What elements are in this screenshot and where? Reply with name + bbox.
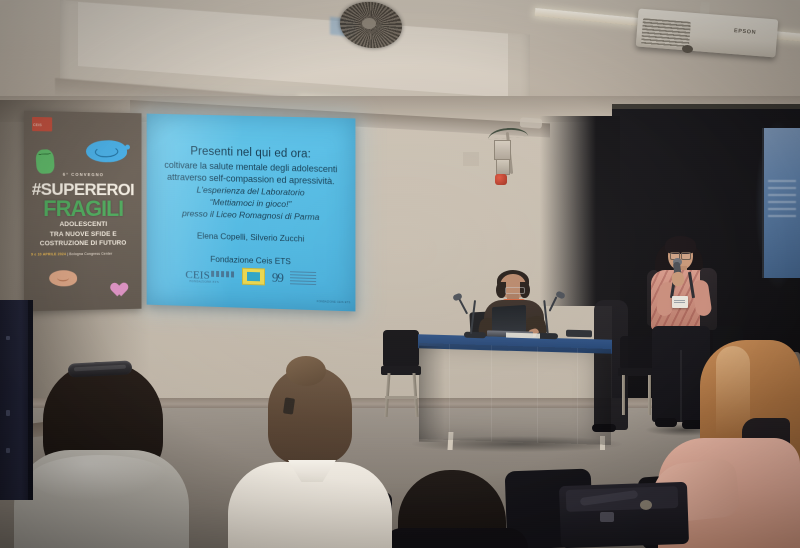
poster-date-bold: 9 e 10 APRILE 2024 [31, 252, 66, 256]
bag-buckle-icon [600, 512, 614, 522]
projection-screen: Presenti nel qui ed ora: coltivare la sa… [147, 114, 356, 312]
alarm-button-icon[interactable] [495, 174, 507, 185]
speaker-glasses-icon [670, 252, 691, 258]
wall-speaker-icon [520, 117, 543, 129]
poster-blue-blob-icon [85, 140, 127, 164]
bag-highlight [640, 500, 652, 510]
audience-shoulder-highlight [30, 455, 170, 501]
left-foreground-panel [0, 300, 30, 500]
poster-subhead: ADOLESCENTI TRA NUOVE SFIDE E COSTRUZION… [30, 220, 136, 249]
projected-slide: Presenti nel qui ed ora: coltivare la sa… [147, 114, 356, 312]
alarm-call-point[interactable] [494, 140, 511, 160]
ceis-logo-subtext: FONDAZIONE ETS [189, 279, 218, 284]
dark-wall-panel-left [540, 116, 620, 306]
speaker-trouser-seam [680, 350, 682, 422]
yellow-teal-logo-inner [247, 272, 260, 281]
speaker-shoe [655, 418, 677, 427]
partner-text-logo [290, 271, 316, 285]
left-panel-hinge [6, 410, 10, 416]
conference-poster: CEIS 6° CONVEGNO #SUPEREROI FRAGILI ADOL… [24, 111, 142, 312]
poster-heart-icon [113, 283, 130, 299]
left-panel-hinge [6, 336, 10, 340]
empty-chair[interactable] [620, 336, 652, 370]
poster-badge-text: CEIS [33, 123, 42, 127]
poster-green-blob-icon [35, 149, 55, 174]
poster-headline-2: FRAGILI [24, 196, 142, 222]
alarm-call-point-lower[interactable] [496, 159, 510, 175]
monitor-text-lines [768, 180, 796, 220]
chair-leg [648, 375, 651, 415]
poster-blue-dot-icon [125, 145, 130, 150]
ceis-logo-blocks [211, 270, 235, 277]
audience-bottom-center-torso [382, 528, 528, 548]
papers-on-table [506, 333, 540, 339]
poster-peach-blob-icon [49, 270, 77, 286]
yellow-teal-logo [242, 268, 265, 286]
quote-mark-logo: 99 [272, 272, 283, 282]
device-on-table [566, 330, 592, 338]
wall-plate [463, 152, 479, 166]
chair-crossbar [385, 396, 417, 399]
left-panel-hinge [6, 448, 10, 453]
chair-leg [622, 375, 625, 415]
air-diffuser-hub [362, 18, 376, 29]
table-cloth-shadow [419, 346, 445, 443]
photo-scene: EPSON Presenti nel qui ed ora: coltivare… [0, 0, 800, 548]
ceis-logo: CEIS FONDAZIONE ETS [185, 268, 234, 282]
slide-authors: Elena Copelli, Silverio Zucchi [156, 230, 347, 247]
left-panel-edge [28, 300, 33, 500]
projector-vent-icon [641, 18, 691, 48]
poster-date-line: 9 e 10 APRILE 2024 | Bologna Congress Ce… [31, 252, 135, 257]
poster-kicker: 6° CONVEGNO [24, 171, 142, 177]
panel-frame [612, 104, 800, 109]
audience-hair-bun [286, 356, 326, 386]
empty-chair[interactable] [383, 330, 419, 368]
head-table-cloth [419, 343, 611, 445]
poster-date-venue: | Bologna Congress Center [66, 252, 112, 256]
speaker-badge-text [674, 300, 685, 304]
presenter-glasses-icon [505, 287, 525, 294]
microphone-base[interactable] [464, 332, 486, 339]
